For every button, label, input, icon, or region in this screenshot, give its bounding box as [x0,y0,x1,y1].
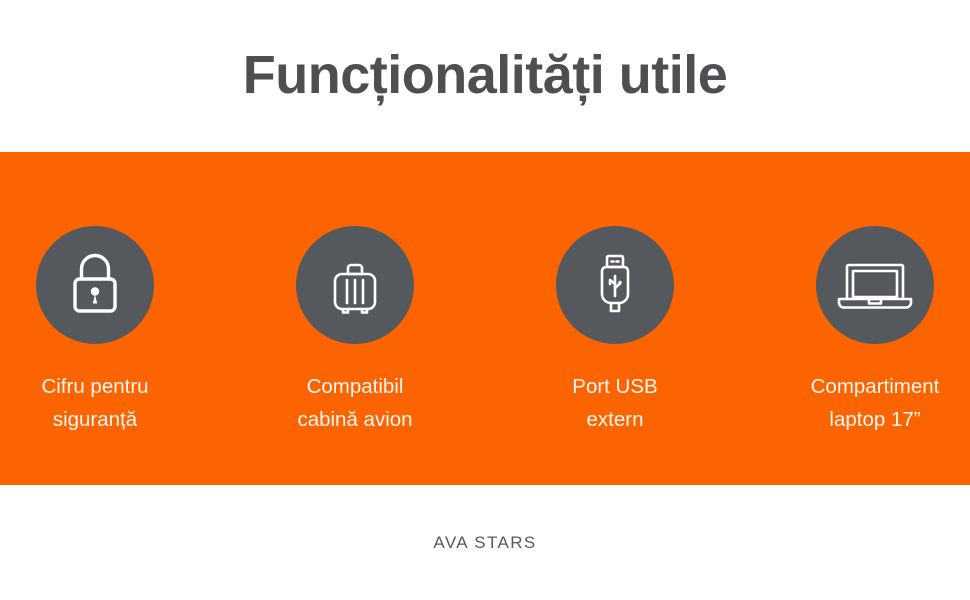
feature-label: Compartiment laptop 17” [811,371,940,437]
feature-item-cifru: Cifru pentru siguranță [8,226,183,437]
feature-item-usb: Port USB extern [528,226,703,437]
usb-drive-icon [591,250,639,320]
icon-circle [36,226,154,344]
icon-circle [816,226,934,344]
feature-band: Cifru pentru siguranță [0,152,970,485]
icon-circle [556,226,674,344]
feature-label: Cifru pentru siguranță [41,371,148,437]
feature-item-compatibil: Compatibil cabină avion [268,226,443,437]
feature-item-laptop: Compartiment laptop 17” [788,226,963,437]
footer-area: AVA STARS [0,485,970,600]
footer-brand: AVA STARS [433,533,536,553]
feature-label: Port USB extern [572,371,657,437]
feature-label: Compatibil cabină avion [297,371,412,437]
suitcase-icon [326,251,384,319]
page-title: Funcționalități utile [243,46,728,105]
padlock-icon [67,252,123,318]
laptop-icon [836,256,914,314]
icon-circle [296,226,414,344]
title-area: Funcționalități utile [0,0,970,152]
feature-list: Cifru pentru siguranță [8,226,963,437]
slide-canvas: Funcționalități utile Cifru pentru s [0,0,970,600]
